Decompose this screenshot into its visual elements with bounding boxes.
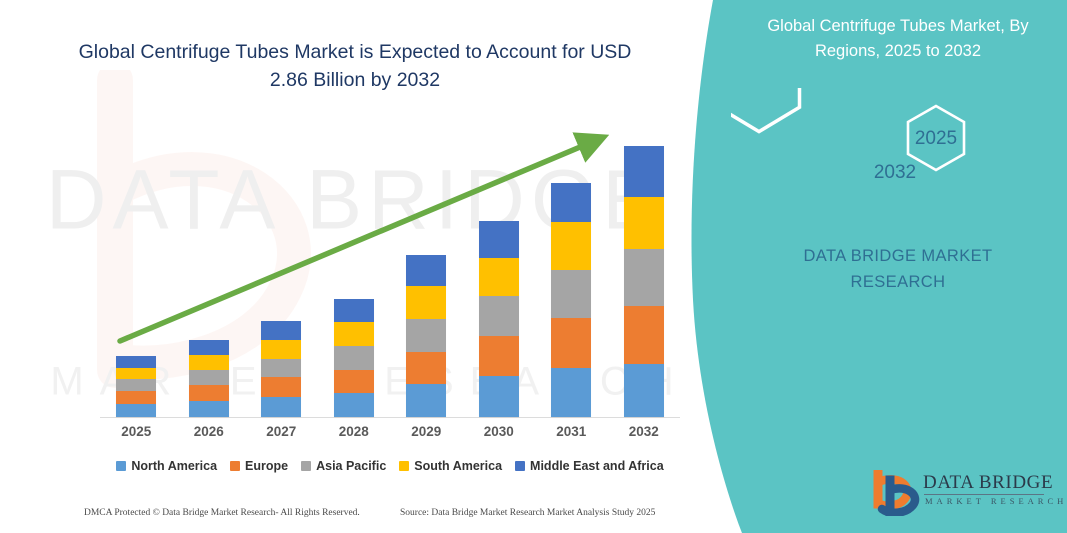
bar-column-2030 [463,120,535,417]
bar-segment [406,255,446,287]
bar-segment [406,286,446,319]
bar-segment [116,356,156,368]
chart-baseline-axis [100,417,680,418]
brand-name-line-1: DATA BRIDGE MARKET [738,243,1058,269]
page-title-line-2: 2.86 Billion by 2032 [60,66,650,94]
legend-label: North America [131,459,217,473]
right-panel-title-line-1: Global Centrifuge Tubes Market, By [743,14,1053,39]
bar-segment [334,299,374,322]
footer: DMCA Protected © Data Bridge Market Rese… [0,508,713,528]
bar-segment [334,370,374,394]
x-axis-label-2025: 2025 [100,424,172,439]
bar-column-2027 [245,120,317,417]
bar-column-2029 [390,120,462,417]
right-panel-title: Global Centrifuge Tubes Market, By Regio… [743,14,1053,64]
bar-column-2028 [318,120,390,417]
bar-segment [551,183,591,222]
brand-name-line-2: RESEARCH [738,269,1058,295]
bar-segment [189,370,229,386]
brand-name-text: DATA BRIDGE MARKET RESEARCH [738,243,1058,295]
bar-segment [624,197,664,248]
legend-swatch-icon [399,461,409,471]
legend-label: South America [414,459,502,473]
legend-label: Middle East and Africa [530,459,664,473]
bar-segment [261,397,301,417]
legend-item: Asia Pacific [301,459,386,473]
bar-segment [334,346,374,370]
bar-segment [479,258,519,297]
bar-segment [261,359,301,378]
bar-segment [406,384,446,417]
dbmr-logo-name: DATA BRIDGE [923,472,1053,494]
page-title: Global Centrifuge Tubes Market is Expect… [60,38,650,94]
x-axis-label-2031: 2031 [535,424,607,439]
stacked-bar [334,299,374,417]
bar-segment [406,319,446,352]
footer-source: Source: Data Bridge Market Research Mark… [400,508,655,518]
bar-segment [189,340,229,355]
dbmr-logo-subtitle: MARKET RESEARCH [925,496,1067,506]
bar-segment [624,249,664,306]
stacked-bar [624,146,664,417]
right-panel: Global Centrifuge Tubes Market, By Regio… [713,0,1067,533]
bar-segment [624,364,664,417]
bar-segment [479,221,519,258]
legend-swatch-icon [515,461,525,471]
legend-item: Middle East and Africa [515,459,664,473]
x-axis-label-2032: 2032 [608,424,680,439]
bar-segment [479,296,519,336]
x-axis-label-2030: 2030 [463,424,535,439]
x-axis-label-2028: 2028 [318,424,390,439]
bar-segment [261,340,301,359]
hexagon-2025-label: 2025 [915,128,957,149]
legend-swatch-icon [116,461,126,471]
x-axis-label-2029: 2029 [390,424,462,439]
dbmr-logo: DATA BRIDGE MARKET RESEARCH [868,470,1048,518]
bar-segment [551,318,591,368]
hexagon-group: 2032 2025 [731,88,1061,218]
bar-segment [116,379,156,391]
legend-item: South America [399,459,502,473]
bar-column-2031 [535,120,607,417]
dbmr-logo-divider [924,494,1044,495]
legend-swatch-icon [301,461,311,471]
stacked-bar [116,356,156,417]
bar-segment [334,322,374,346]
stacked-bar [406,255,446,417]
stacked-bar [479,221,519,417]
bar-segment [189,355,229,370]
dbmr-logo-mark-icon [868,470,920,516]
bar-segment [624,146,664,197]
bar-segment [116,391,156,404]
stacked-bar-chart [100,120,680,417]
legend-swatch-icon [230,461,240,471]
legend-item: Europe [230,459,288,473]
legend-item: North America [116,459,217,473]
hexagon-2032-shape [731,88,800,132]
stacked-bar [189,340,229,417]
bar-column-2032 [608,120,680,417]
hexagons-icon: 2032 2025 [731,88,1061,218]
bar-segment [624,306,664,363]
footer-copyright: DMCA Protected © Data Bridge Market Rese… [84,508,360,518]
stacked-bar [261,321,301,417]
legend-label: Asia Pacific [316,459,386,473]
infographic-root: DATA BRIDGE MARKET RESEARCH Global Centr… [0,0,1067,533]
bar-segment [479,376,519,417]
stacked-bar [551,183,591,417]
legend-label: Europe [245,459,288,473]
bar-segment [189,385,229,401]
bar-segment [551,368,591,418]
bar-segment [116,368,156,380]
right-panel-title-line-2: Regions, 2025 to 2032 [743,39,1053,64]
bar-segment [479,336,519,377]
bar-column-2026 [173,120,245,417]
page-title-line-1: Global Centrifuge Tubes Market is Expect… [60,38,650,66]
bar-segment [406,352,446,385]
chart-x-axis-labels: 20252026202720282029203020312032 [100,424,680,439]
x-axis-label-2026: 2026 [173,424,245,439]
bar-segment [261,377,301,397]
bar-segment [116,404,156,417]
chart-legend: North AmericaEuropeAsia PacificSouth Ame… [100,459,680,473]
bar-segment [551,222,591,270]
bar-segment [334,393,374,417]
hexagon-2032-label: 2032 [874,162,916,183]
bar-column-2025 [100,120,172,417]
bar-segment [551,270,591,319]
bar-segment [261,321,301,340]
x-axis-label-2027: 2027 [245,424,317,439]
bar-segment [189,401,229,417]
